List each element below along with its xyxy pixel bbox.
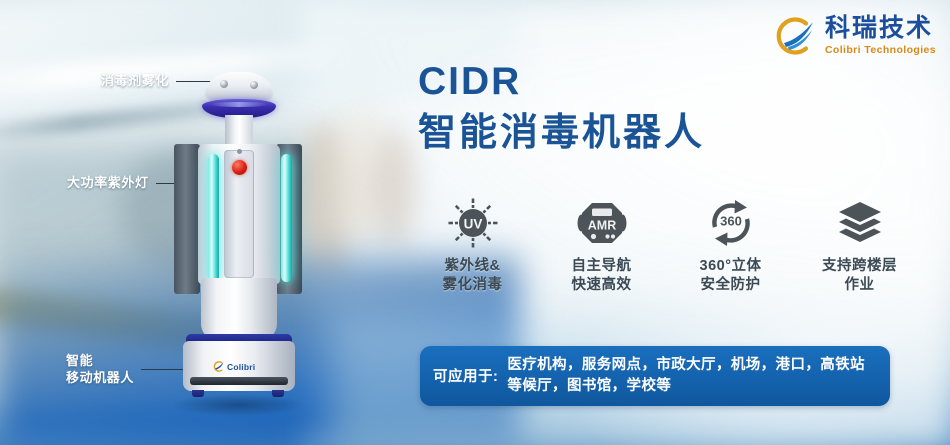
- feature-label-line2: 雾化消毒: [443, 276, 503, 295]
- feature-item-uv: UV 紫外线& 雾化消毒: [408, 196, 537, 294]
- callout-text: 消毒剂雾化: [101, 73, 169, 90]
- svg-text:AMR: AMR: [587, 219, 615, 233]
- feature-label: 紫外线& 雾化消毒: [443, 257, 503, 294]
- product-title: 智能消毒机器人: [418, 114, 705, 152]
- logo-english-name: Colibri Technologies: [825, 45, 936, 56]
- applications-line2: 等候厅，图书馆，学校等: [507, 376, 865, 397]
- feature-label-line2: 安全防护: [700, 276, 762, 295]
- robot-base-foot: [192, 390, 204, 397]
- callout-line1: 消毒剂雾化: [101, 73, 169, 90]
- robot-emergency-stop-button: [232, 160, 247, 175]
- logo-text-block: 科瑞技术 Colibri Technologies: [825, 16, 936, 56]
- colibri-logo-mark: [772, 14, 818, 58]
- feature-item-360: 360 360°立体 安全防护: [666, 196, 795, 294]
- callout-text: 大功率紫外灯: [67, 175, 149, 192]
- feature-item-amr: AMR 自主导航 快速高效: [537, 196, 666, 294]
- robot-lower-body: [201, 278, 277, 340]
- robot-base-sensor-strip: [190, 377, 288, 385]
- headline-block: CIDR 智能消毒机器人: [418, 62, 705, 152]
- applications-label: 可应用于:: [433, 365, 498, 386]
- feature-label-line1: 360°立体: [700, 257, 762, 276]
- feature-label: 支持跨楼层 作业: [822, 257, 897, 294]
- robot-lamp-housing-left: [174, 144, 200, 294]
- applications-banner: 可应用于: 医疗机构，服务网点，市政大厅，机场，港口，高铁站 等候厅，图书馆，学…: [420, 346, 890, 406]
- robot-base-logo-text: Colibri: [227, 362, 255, 372]
- product-banner: 科瑞技术 Colibri Technologies CIDR 智能消毒机器人 U…: [0, 0, 950, 445]
- rotate-360-icon: 360: [704, 196, 758, 250]
- feature-label-line1: 支持跨楼层: [822, 257, 897, 276]
- robot-head-sensor: [220, 80, 228, 88]
- feature-item-multifloor: 支持跨楼层 作业: [795, 196, 924, 294]
- feature-label-line1: 紫外线&: [443, 257, 503, 276]
- uv-lamp-tube-left: [208, 154, 219, 282]
- company-logo: 科瑞技术 Colibri Technologies: [772, 14, 936, 58]
- feature-label: 自主导航 快速高效: [572, 257, 632, 294]
- applications-line1: 医疗机构，服务网点，市政大厅，机场，港口，高铁站: [507, 355, 865, 376]
- layers-icon: [833, 196, 887, 250]
- svg-text:UV: UV: [463, 217, 482, 232]
- colibri-logo-mark-small: [212, 360, 225, 373]
- robot-base-logo: Colibri: [212, 360, 255, 373]
- feature-label-line2: 快速高效: [572, 276, 632, 295]
- robot-status-led: [237, 149, 242, 154]
- robot-shadow: [172, 394, 304, 416]
- amr-robot-icon: AMR: [575, 196, 629, 250]
- robot-base-foot: [272, 390, 284, 397]
- logo-chinese-name: 科瑞技术: [825, 16, 936, 41]
- callout-text: 智能 移动机器人: [66, 353, 134, 387]
- product-code: CIDR: [418, 62, 705, 101]
- callout-line1: 大功率紫外灯: [67, 175, 149, 192]
- svg-text:360: 360: [720, 214, 742, 229]
- feature-label-line2: 作业: [822, 276, 897, 295]
- applications-text: 医疗机构，服务网点，市政大厅，机场，港口，高铁站 等候厅，图书馆，学校等: [507, 355, 865, 396]
- feature-label-line1: 自主导航: [572, 257, 632, 276]
- callout-line2: 移动机器人: [66, 370, 134, 387]
- disinfection-robot-image: Colibri: [168, 72, 308, 410]
- feature-label: 360°立体 安全防护: [700, 257, 762, 294]
- feature-list: UV 紫外线& 雾化消毒: [408, 196, 924, 294]
- robot-head-sensor: [250, 81, 258, 89]
- uv-lamp-tube-right: [281, 154, 292, 282]
- uv-sun-icon: UV: [446, 196, 500, 250]
- callout-line1: 智能: [66, 353, 134, 370]
